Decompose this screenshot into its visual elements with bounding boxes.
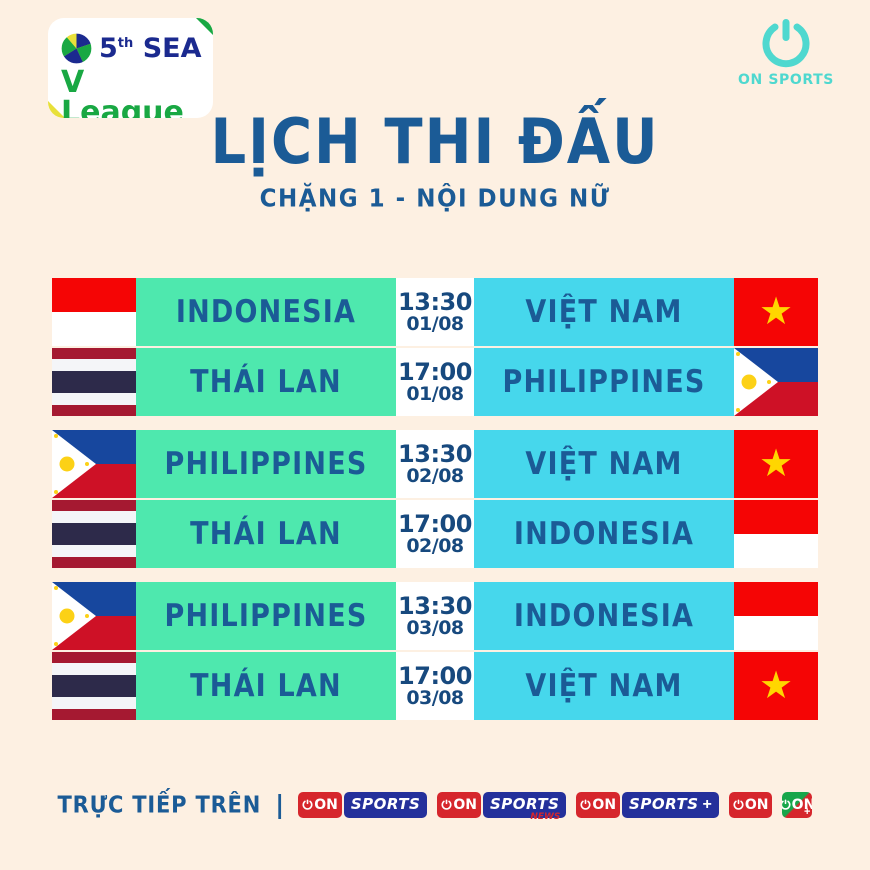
match-time-box: 13:30 03/08 [396,582,474,650]
poster-canvas: 5th SEA V League ON SPORTS LỊCH THI ĐẤU … [0,0,870,870]
sports-badge-text: SPORTS [351,797,420,812]
on-plus-badge: ON + [782,792,812,818]
sports-badge-text: SPORTS [490,797,559,812]
power-button-icon [302,799,313,810]
flag-indonesia [734,500,818,568]
table-row: THÁI LAN 17:00 01/08 PHILIPPINES [52,348,818,416]
broadcast-separator: | [275,790,284,819]
flag-vietnam: ★ [734,652,818,720]
home-team: PHILIPPINES [136,582,396,650]
away-team: VIỆT NAM [474,278,734,346]
logo-ordinal: 5 [99,33,118,64]
table-row: INDONESIA 13:30 01/08 VIỆT NAM ★ [52,278,818,346]
broadcast-label: TRỰC TIẾP TRÊN [58,791,262,817]
away-team: INDONESIA [474,582,734,650]
sports-badge-text: SPORTS [629,797,698,812]
match-date: 02/08 [406,537,463,556]
power-button-icon [580,799,591,810]
power-button-icon [759,16,813,70]
home-team: THÁI LAN [136,500,396,568]
flag-vietnam: ★ [734,278,818,346]
plus-suffix: + [804,807,810,818]
match-time: 13:30 [398,442,472,466]
match-date: 01/08 [406,315,463,334]
table-row: PHILIPPINES 13:30 03/08 INDONESIA [52,582,818,650]
logo-sea-text: SEA [143,33,202,64]
match-time: 13:30 [398,594,472,618]
volleyball-icon [60,32,93,65]
sports-badge: SPORTS [344,792,427,818]
flag-thailand [52,500,136,568]
sports-badge: SPORTS NEWS [483,792,566,818]
flag-thailand [52,348,136,416]
away-team: INDONESIA [474,500,734,568]
match-date: 03/08 [406,689,463,708]
on-badge-text: ON [592,798,616,812]
flag-indonesia [734,582,818,650]
match-time-box: 17:00 02/08 [396,500,474,568]
table-row: THÁI LAN 17:00 02/08 INDONESIA [52,500,818,568]
table-row: THÁI LAN 17:00 03/08 VIỆT NAM ★ [52,652,818,720]
match-date: 03/08 [406,619,463,638]
flag-thailand [52,652,136,720]
away-team: VIỆT NAM [474,430,734,498]
sports-badge: SPORTS + [622,792,719,818]
flag-philippines [52,582,136,650]
power-button-icon [441,799,452,810]
broadcast-footer: TRỰC TIẾP TRÊN | ON SPORTS ON [0,790,870,819]
match-time-box: 17:00 01/08 [396,348,474,416]
channel-on-sports-plus[interactable]: ON SPORTS + [576,791,718,819]
match-time: 17:00 [398,664,472,688]
flag-philippines [734,348,818,416]
match-schedule: INDONESIA 13:30 01/08 VIỆT NAM ★ THÁI LA… [52,278,818,722]
flag-vietnam: ★ [734,430,818,498]
channel-on-plus[interactable]: ON + [782,791,812,819]
match-time: 13:30 [398,290,472,314]
home-team: THÁI LAN [136,348,396,416]
logo-ordinal-sea: 5th SEA [99,35,201,62]
logo-ordinal-suffix: th [118,36,133,51]
home-team: PHILIPPINES [136,430,396,498]
on-badge: ON [729,792,773,818]
match-time: 17:00 [398,512,472,536]
flag-indonesia [52,278,136,346]
match-time-box: 13:30 02/08 [396,430,474,498]
on-badge: ON [576,792,620,818]
home-team: THÁI LAN [136,652,396,720]
home-team: INDONESIA [136,278,396,346]
plus-suffix: + [703,797,712,813]
away-team: VIỆT NAM [474,652,734,720]
match-time-box: 17:00 03/08 [396,652,474,720]
on-sports-watermark: ON SPORTS [726,16,846,88]
on-badge-text: ON [745,798,769,812]
on-badge: ON [437,792,481,818]
table-row: PHILIPPINES 13:30 02/08 VIỆT NAM ★ [52,430,818,498]
news-suffix: NEWS [530,812,560,822]
channel-on-sports-news[interactable]: ON SPORTS NEWS [437,791,566,819]
away-team: PHILIPPINES [474,348,734,416]
match-time-box: 13:30 01/08 [396,278,474,346]
power-button-icon [733,799,744,810]
match-time: 17:00 [398,360,472,384]
power-button-icon [782,799,790,810]
flag-philippines [52,430,136,498]
league-logo-card: 5th SEA V League [48,18,213,118]
channel-on-sports[interactable]: ON SPORTS [298,791,427,819]
logo-top-row: 5th SEA [60,32,201,65]
on-badge-text: ON [453,798,477,812]
on-badge-text: ON [314,798,338,812]
on-badge: ON [298,792,342,818]
match-date: 02/08 [406,467,463,486]
match-date: 01/08 [406,385,463,404]
page-subtitle: CHẶNG 1 - NỘI DUNG NỮ [0,185,870,213]
channel-on[interactable]: ON [729,791,773,819]
page-title: LỊCH THI ĐẤU [0,106,870,179]
on-sports-watermark-label: ON SPORTS [726,72,846,88]
